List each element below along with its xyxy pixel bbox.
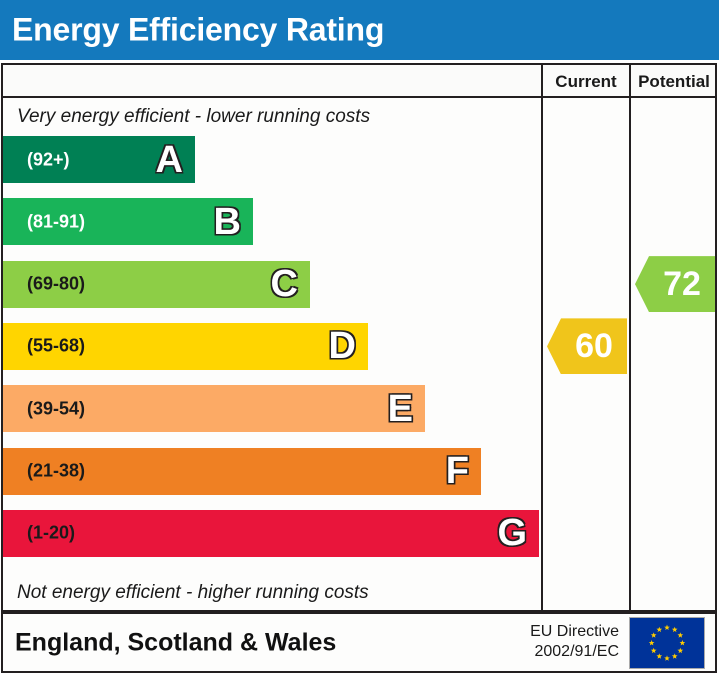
band-range-g: (1-20) [27, 523, 75, 544]
band-letter-d: D [329, 327, 356, 365]
band-letter-b: B [214, 203, 241, 241]
caption-very-efficient: Very energy efficient - lower running co… [3, 98, 541, 136]
band-row-g: (1-20)G [3, 510, 539, 557]
band-letter-f: F [446, 452, 469, 490]
band-range-a: (92+) [27, 149, 70, 170]
band-row-c: (69-80)C [3, 261, 310, 308]
band-letter-a: A [156, 141, 183, 179]
potential-column-divider [629, 65, 631, 610]
energy-efficiency-rating-chart: Energy Efficiency Rating Current Potenti… [0, 0, 719, 675]
chart-footer: England, Scotland & Wales EU Directive 2… [1, 612, 717, 673]
band-letter-e: E [388, 390, 413, 428]
footer-directive-line2: 2002/91/EC [530, 643, 619, 664]
page-title: Energy Efficiency Rating [12, 12, 384, 49]
footer-region-label: England, Scotland & Wales [15, 628, 336, 657]
band-row-e: (39-54)E [3, 385, 425, 432]
current-rating-marker: 60 [547, 318, 627, 374]
potential-rating-marker: 72 [635, 256, 715, 312]
band-row-f: (21-38)F [3, 448, 481, 495]
column-header-potential: Potential [631, 65, 717, 98]
rating-table: Current Potential Very energy efficient … [1, 63, 717, 612]
band-range-c: (69-80) [27, 274, 85, 295]
band-range-e: (39-54) [27, 398, 85, 419]
band-row-a: (92+)A [3, 136, 195, 183]
band-range-d: (55-68) [27, 336, 85, 357]
band-letter-c: C [271, 265, 298, 303]
footer-directive: EU Directive 2002/91/EC [530, 622, 619, 664]
potential-rating-value: 72 [649, 267, 715, 301]
caption-not-efficient: Not energy efficient - higher running co… [3, 574, 541, 612]
band-letter-g: G [497, 514, 527, 552]
band-range-b: (81-91) [27, 211, 85, 232]
column-header-current: Current [543, 65, 629, 98]
current-rating-value: 60 [561, 329, 627, 363]
band-row-d: (55-68)D [3, 323, 368, 370]
band-list: (92+)A(81-91)B(69-80)C(55-68)D(39-54)E(2… [3, 136, 541, 574]
footer-directive-line1: EU Directive [530, 622, 619, 643]
eu-flag-icon [629, 617, 705, 669]
current-column-divider [541, 65, 543, 610]
band-row-b: (81-91)B [3, 198, 253, 245]
chart-title-bar: Energy Efficiency Rating [0, 0, 719, 60]
band-range-f: (21-38) [27, 461, 85, 482]
